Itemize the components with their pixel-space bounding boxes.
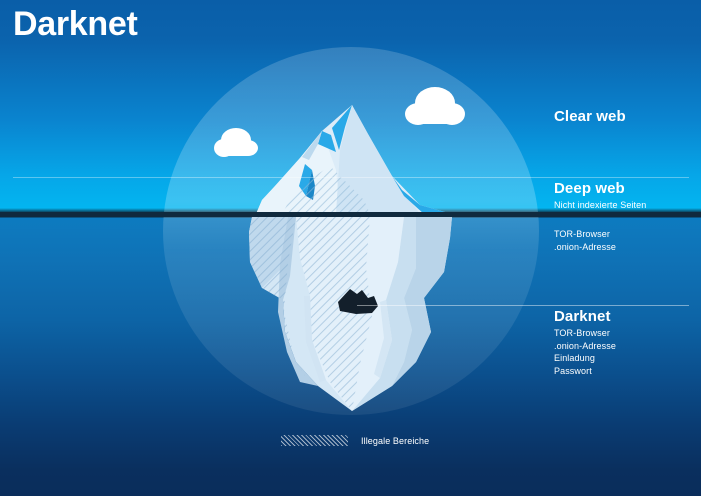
- iceberg-above-water: [256, 105, 452, 214]
- deep-web-heading: Deep web: [554, 180, 646, 199]
- darknet-heading: Darknet: [554, 308, 616, 327]
- clear-web-heading: Clear web: [554, 108, 626, 127]
- deep-web-divider: [13, 177, 689, 178]
- dark-cave-icon: [338, 289, 378, 314]
- cloud-large-icon: [405, 87, 465, 125]
- tor-label-group: TOR-Browser .onion-Adresse: [554, 228, 616, 254]
- background-glow-circle: [163, 47, 539, 415]
- darknet-item-invitation: Einladung: [554, 352, 616, 365]
- tor-item-onion: .onion-Adresse: [554, 241, 616, 254]
- darknet-label-group: Darknet TOR-Browser .onion-Adresse Einla…: [554, 308, 616, 378]
- infographic-canvas: Darknet Clear web Deep web Nicht indexie…: [0, 0, 701, 496]
- darknet-item-browser: TOR-Browser: [554, 327, 616, 340]
- tor-item-browser: TOR-Browser: [554, 228, 616, 241]
- deep-web-label-group: Deep web Nicht indexierte Seiten: [554, 180, 646, 211]
- darknet-item-password: Passwort: [554, 365, 616, 378]
- clear-web-label-group: Clear web: [554, 108, 626, 127]
- darknet-connector-line: [357, 305, 689, 306]
- iceberg-below-water: [249, 217, 452, 411]
- legend-label: Illegale Bereiche: [361, 436, 429, 446]
- legend-hatch-swatch-icon: [281, 435, 348, 446]
- page-title: Darknet: [13, 6, 138, 43]
- legend: Illegale Bereiche: [281, 435, 429, 446]
- cloud-small-icon: [214, 128, 258, 157]
- darknet-item-onion: .onion-Adresse: [554, 340, 616, 353]
- deep-web-subtitle: Nicht indexierte Seiten: [554, 199, 646, 211]
- waterline-divider: [0, 212, 701, 217]
